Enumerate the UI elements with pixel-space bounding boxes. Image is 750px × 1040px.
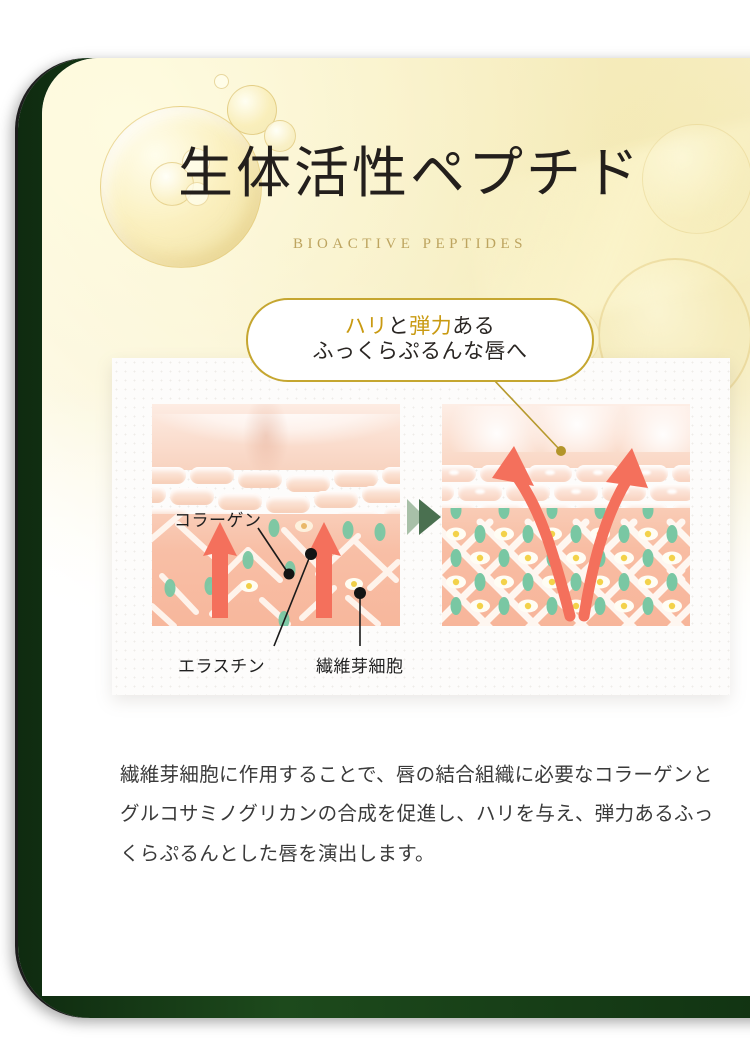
double-chevron-right-icon <box>405 495 445 539</box>
description-paragraph: 繊維芽細胞に作用することで、唇の結合組織に必要なコラーゲンとグルコサミノグリカン… <box>120 756 720 876</box>
label-fibroblast: 繊維芽細胞 <box>316 652 404 677</box>
label-elastin: エラスチン <box>178 652 265 677</box>
badge-conjunction: と <box>388 314 410 338</box>
badge-line-1: ハリと弾力ある <box>345 314 496 338</box>
epidermis-sagging <box>152 404 400 470</box>
label-collagen: コラーゲン <box>174 506 262 531</box>
plumping-arrows <box>442 404 690 626</box>
upward-arrow-left <box>200 520 240 620</box>
upward-arrow-right <box>304 520 344 620</box>
badge-line-2: ふっくらぷるんな唇へ <box>313 338 528 365</box>
card-content-area: 生体活性ペプチド BIOACTIVE PEPTIDES ハリと弾力ある ふっくら… <box>42 58 750 996</box>
plump-skin-cross-section <box>442 404 690 626</box>
skin-diagram-panel: コラーゲン エラスチン 繊維芽細胞 <box>112 358 730 695</box>
badge-gold-danryoku: 弾力 <box>409 314 452 338</box>
page-title: 生体活性ペプチド <box>42 146 750 201</box>
page-subtitle: BIOACTIVE PEPTIDES <box>42 236 750 253</box>
oil-bubble-decor <box>214 74 229 89</box>
benefit-callout-badge: ハリと弾力ある ふっくらぷるんな唇へ <box>246 298 594 382</box>
badge-gold-hari: ハリ <box>345 314 388 338</box>
product-info-card: 生体活性ペプチド BIOACTIVE PEPTIDES ハリと弾力ある ふっくら… <box>18 58 750 1018</box>
badge-line-1-tail: ある <box>452 314 495 338</box>
